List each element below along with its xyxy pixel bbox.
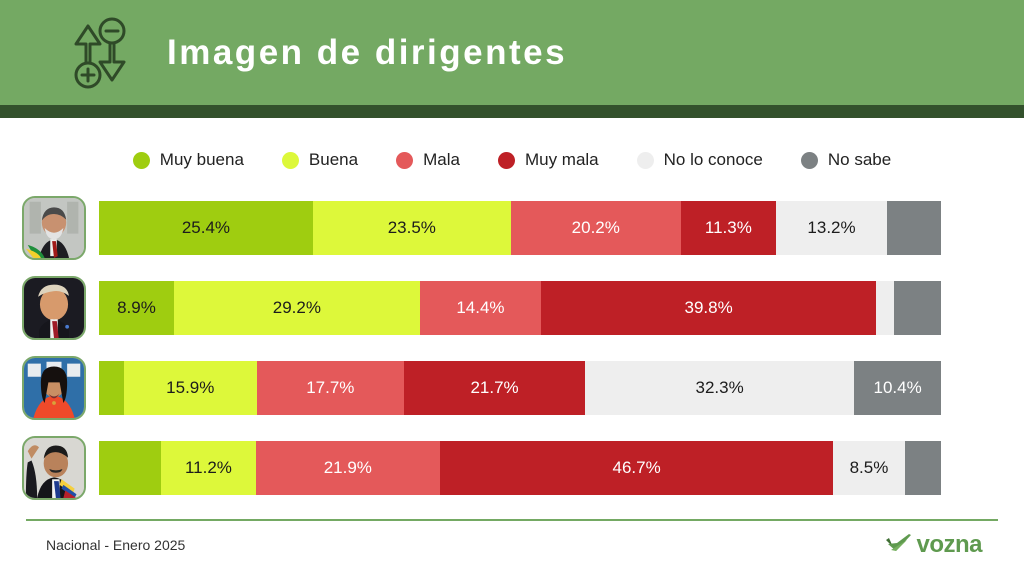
stacked-bar-maduro: 11.2%21.9%46.7%8.5% [99,441,941,495]
bar-segment-label: 17.7% [306,378,354,398]
avatar-trump [22,276,86,340]
bar-segment-label: 14.4% [456,298,504,318]
bar-segment-label: 11.2% [185,458,232,478]
bar-segment-label: 10.4% [873,378,921,398]
bar-segment-label: 11.3% [705,218,752,238]
legend-item-muy_buena[interactable]: Muy buena [133,150,244,170]
bar-segment[interactable]: 17.7% [257,361,405,415]
footer-divider [26,519,998,521]
avatar-maduro [22,436,86,500]
bar-segment[interactable] [99,361,124,415]
stacked-bar-delcy-rodriguez: 15.9%17.7%21.7%32.3%10.4% [99,361,941,415]
bar-segment[interactable]: 23.5% [313,201,511,255]
bird-check-icon [885,534,911,556]
bar-segment[interactable]: 20.2% [511,201,681,255]
bar-segment[interactable]: 13.2% [776,201,887,255]
bar-segment-label: 21.7% [470,378,518,398]
bar-segment[interactable]: 39.8% [541,281,876,335]
legend-item-label: Mala [423,150,460,170]
bar-segment[interactable] [99,441,161,495]
chart-legend: Muy buenaBuenaMalaMuy malaNo lo conoceNo… [0,150,1024,170]
header-underline [0,105,1024,118]
footer-caption: Nacional - Enero 2025 [46,537,185,553]
stacked-bar-trump: 8.9%29.2%14.4%39.8% [99,281,941,335]
legend-item-muy_mala[interactable]: Muy mala [498,150,599,170]
bar-segment[interactable] [894,281,941,335]
page-title: Imagen de dirigentes [167,33,567,73]
bar-segment[interactable] [887,201,941,255]
bar-segment[interactable]: 11.3% [681,201,776,255]
legend-item-mala[interactable]: Mala [396,150,460,170]
legend-item-label: Muy buena [160,150,244,170]
legend-swatch-icon [498,152,515,169]
bar-segment-label: 15.9% [166,378,214,398]
bar-segment-label: 20.2% [572,218,620,238]
bar-segment[interactable]: 14.4% [420,281,541,335]
stacked-bar-chart: 25.4%23.5%20.2%11.3%13.2% 8.9%29.2%14.4%… [0,188,1024,508]
bar-segment-label: 13.2% [807,218,855,238]
chart-row: 8.9%29.2%14.4%39.8% [0,268,1024,348]
bar-segment[interactable]: 46.7% [440,441,833,495]
legend-item-label: No lo conoce [664,150,763,170]
avatar-delcy-rodriguez [22,356,86,420]
bar-segment[interactable]: 8.5% [833,441,905,495]
legend-swatch-icon [637,152,654,169]
bar-segment-label: 21.9% [324,458,372,478]
legend-item-buena[interactable]: Buena [282,150,358,170]
arrows-up-down-plus-minus-icon [66,16,132,90]
legend-item-label: No sabe [828,150,891,170]
chart-row: 15.9%17.7%21.7%32.3%10.4% [0,348,1024,428]
bar-segment[interactable] [876,281,894,335]
page-header: Imagen de dirigentes [0,0,1024,105]
bar-segment[interactable]: 11.2% [161,441,255,495]
bar-segment-label: 46.7% [612,458,660,478]
legend-swatch-icon [396,152,413,169]
bar-segment[interactable]: 21.7% [404,361,585,415]
avatar-lula [22,196,86,260]
brand-logo-text: vozna [916,531,982,559]
legend-swatch-icon [801,152,818,169]
stacked-bar-lula: 25.4%23.5%20.2%11.3%13.2% [99,201,941,255]
bar-segment[interactable]: 8.9% [99,281,174,335]
bar-segment[interactable] [905,441,941,495]
bar-segment[interactable]: 29.2% [174,281,420,335]
bar-segment-label: 23.5% [388,218,436,238]
legend-swatch-icon [282,152,299,169]
brand-logo: vozna [885,531,982,559]
legend-item-label: Muy mala [525,150,599,170]
chart-row: 25.4%23.5%20.2%11.3%13.2% [0,188,1024,268]
bar-segment[interactable]: 10.4% [854,361,941,415]
legend-item-no_lo_conoce[interactable]: No lo conoce [637,150,763,170]
bar-segment[interactable]: 15.9% [124,361,257,415]
bar-segment[interactable]: 25.4% [99,201,313,255]
bar-segment-label: 8.9% [117,298,156,318]
bar-segment[interactable]: 32.3% [585,361,854,415]
bar-segment-label: 32.3% [696,378,744,398]
bar-segment-label: 25.4% [182,218,230,238]
bar-segment[interactable]: 21.9% [256,441,440,495]
bar-segment-label: 39.8% [684,298,732,318]
legend-item-label: Buena [309,150,358,170]
legend-item-no_sabe[interactable]: No sabe [801,150,891,170]
legend-swatch-icon [133,152,150,169]
chart-row: 11.2%21.9%46.7%8.5% [0,428,1024,508]
bar-segment-label: 29.2% [273,298,321,318]
bar-segment-label: 8.5% [850,458,889,478]
